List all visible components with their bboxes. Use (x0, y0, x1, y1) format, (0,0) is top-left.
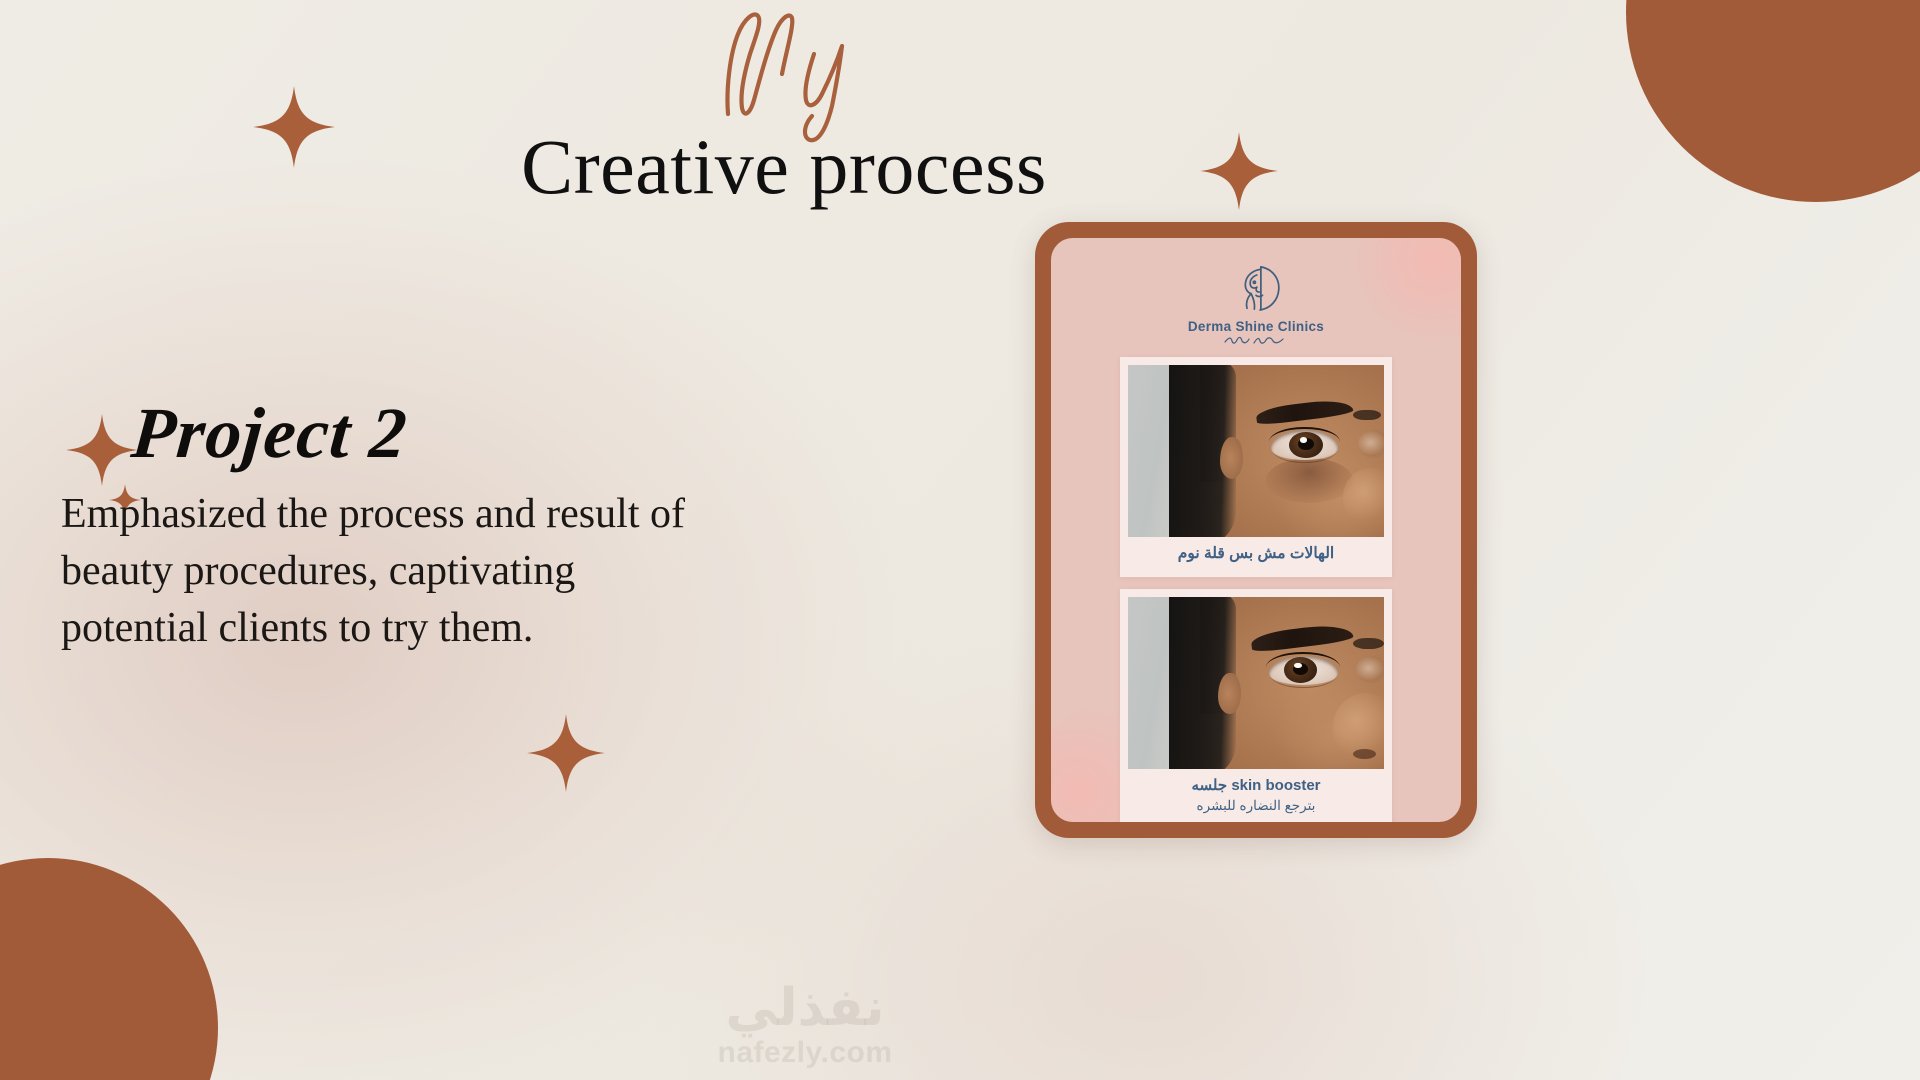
page-title: Creative process (0, 126, 1568, 209)
post-caption-arabic-prefix: جلسه (1191, 777, 1227, 794)
project-description: Emphasized the process and result of bea… (61, 486, 721, 657)
decorative-blob-top-right (1351, 238, 1461, 344)
signature-scribble-icon (1221, 335, 1291, 345)
decorative-circle-bottom-left (0, 858, 218, 1080)
device-mockup-frame: Derma Shine Clinics (1035, 222, 1477, 838)
brand-logo: Derma Shine Clinics (1188, 262, 1324, 345)
post-photo (1128, 365, 1384, 537)
post-caption-line1: skin booster جلسه (1130, 776, 1382, 796)
decorative-circle-top-right (1626, 0, 1920, 202)
watermark-arabic-text: نفذلي (675, 982, 935, 1034)
sparkle-icon (66, 414, 138, 486)
watermark-domain: nafezly.com (675, 1038, 935, 1068)
post-card: skin booster جلسه بترجع النضاره للبشره (1120, 589, 1392, 822)
sparkle-icon (527, 714, 605, 792)
brand-name: Derma Shine Clinics (1188, 319, 1324, 334)
slide-canvas: Creative process Project 2 Emphasized th… (0, 0, 1920, 1080)
post-caption: الهالات مش بس قلة نوم (1128, 537, 1384, 573)
post-photo (1128, 597, 1384, 769)
post-caption: skin booster جلسه بترجع النضاره للبشره (1128, 769, 1384, 822)
project-heading: Project 2 (129, 397, 410, 469)
post-caption-line2: بترجع النضاره للبشره (1130, 797, 1382, 815)
woman-face-in-d-logo-icon (1227, 262, 1285, 314)
watermark: نفذلي nafezly.com (675, 982, 935, 1068)
post-card: الهالات مش بس قلة نوم (1120, 357, 1392, 577)
post-caption-latin: skin booster (1231, 776, 1320, 796)
device-screen: Derma Shine Clinics (1051, 238, 1461, 822)
